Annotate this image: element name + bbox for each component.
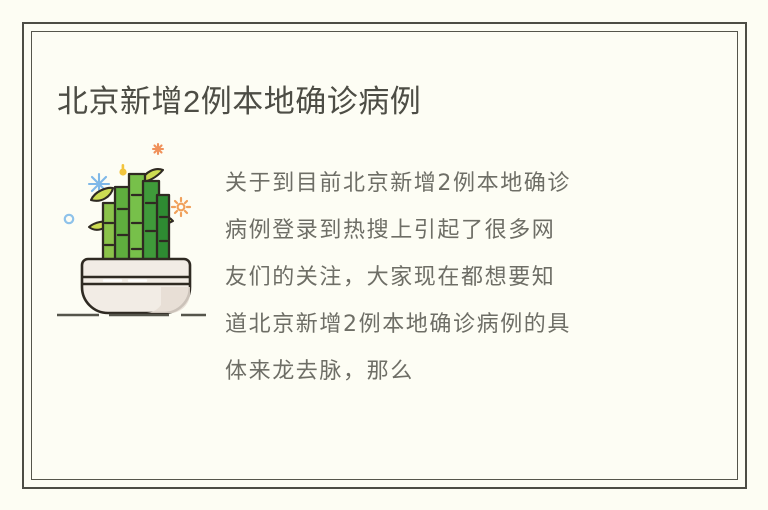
article-line: 关于到目前北京新增2例本地确诊: [225, 160, 675, 207]
article-line: 友们的关注，大家现在都想要知: [225, 254, 675, 301]
article-body: 关于到目前北京新增2例本地确诊 病例登录到热搜上引起了很多网 友们的关注，大家现…: [225, 160, 675, 395]
page-title: 北京新增2例本地确诊病例: [57, 82, 421, 122]
flower-sparkle-orange-icon: [172, 198, 190, 216]
star-sparkle-orange-icon: [153, 144, 163, 154]
ring-sparkle-blue-icon: [65, 215, 73, 223]
potted-bamboo-illustration: [51, 131, 219, 321]
article-line: 体来龙去脉，那么: [225, 348, 675, 395]
article-line: 病例登录到热搜上引起了很多网: [225, 207, 675, 254]
article-card: 北京新增2例本地确诊病例: [0, 0, 768, 510]
card-content: 北京新增2例本地确诊病例: [31, 31, 738, 480]
plant-pot: [82, 259, 190, 313]
article-line: 道北京新增2例本地确诊病例的具: [225, 301, 675, 348]
dot-sparkle-yellow-icon: [119, 164, 126, 176]
